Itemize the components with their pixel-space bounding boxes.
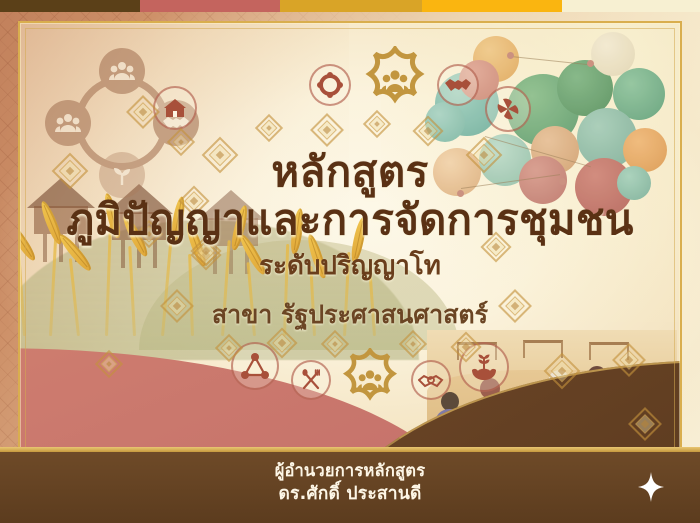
footer-role: ผู้อำนวยการหลักสูตร: [0, 459, 700, 482]
handshake-icon: [437, 64, 479, 106]
strip-segment-dark-brown: [0, 0, 140, 12]
footer-name: ดร.ศักดิ์ ประสานดี: [0, 482, 700, 507]
people-group-medallion-icon: [359, 46, 431, 118]
title-line-1: หลักสูตร: [19, 150, 681, 194]
footer-text: ผู้อำนวยการหลักสูตร ดร.ศักดิ์ ประสานดี: [0, 459, 700, 507]
top-color-strip: [0, 0, 700, 12]
strip-segment-gold: [280, 0, 422, 12]
footer-bar: ผู้อำนวยการหลักสูตร ดร.ศักดิ์ ประสานดี: [0, 452, 700, 523]
sparkle-icon: [638, 472, 664, 502]
title-line-2: ภูมิปัญญาและการจัดการชุมชน: [19, 198, 681, 242]
circle-of-hands-icon: [309, 64, 351, 106]
weaving-hands-icon: [411, 360, 451, 400]
poster-slide: หลักสูตร ภูมิปัญญาและการจัดการชุมชน ระดั…: [0, 0, 700, 523]
temple-house-icon: [153, 86, 197, 130]
title-line-3: ระดับปริญญาโท: [19, 253, 681, 280]
strip-segment-muted-red: [140, 0, 280, 12]
top-badge-row: [19, 64, 681, 124]
hands-pinwheel-icon: [485, 86, 531, 132]
strip-segment-cream: [562, 0, 700, 12]
fork-spoon-crossed-icon: [291, 360, 331, 400]
strip-segment-amber: [422, 0, 562, 12]
poster-canvas: หลักสูตร ภูมิปัญญาและการจัดการชุมชน ระดั…: [19, 22, 681, 500]
bottom-badge-row: [19, 342, 681, 412]
title-line-4: สาขา รัฐประศาสนศาสตร์: [19, 302, 681, 328]
people-group-medallion-icon: [337, 348, 403, 414]
title-block: หลักสูตร ภูมิปัญญาและการจัดการชุมชน ระดั…: [19, 150, 681, 328]
